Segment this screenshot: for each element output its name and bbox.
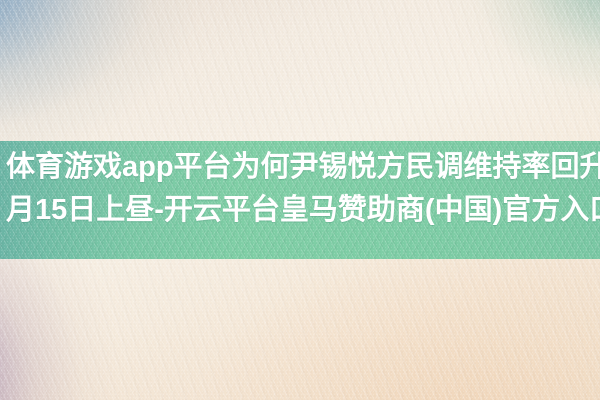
- headline-text: 体育游戏app平台为何尹锡悦方民调维持率回升？1 月15日上昼-开云平台皇马赞助…: [0, 146, 600, 232]
- headline-line-2: 月15日上昼-开云平台皇马赞助商(中国)官方入口: [6, 189, 596, 232]
- headline-line-1: 体育游戏app平台为何尹锡悦方民调维持率回升？1: [6, 146, 596, 189]
- promo-banner: 体育游戏app平台为何尹锡悦方民调维持率回升？1 月15日上昼-开云平台皇马赞助…: [0, 0, 600, 400]
